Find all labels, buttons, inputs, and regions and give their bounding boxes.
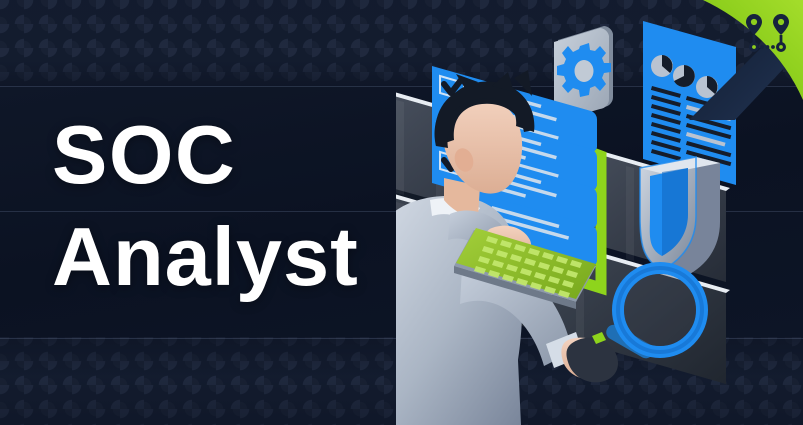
page-title: SOC Analyst (52, 104, 412, 308)
title-line-1: SOC (52, 104, 412, 206)
soc-analyst-banner: SOC Analyst (0, 0, 803, 425)
security-shield (640, 157, 720, 276)
title-line-2: Analyst (52, 206, 412, 308)
corner-badge[interactable] (683, 0, 803, 120)
